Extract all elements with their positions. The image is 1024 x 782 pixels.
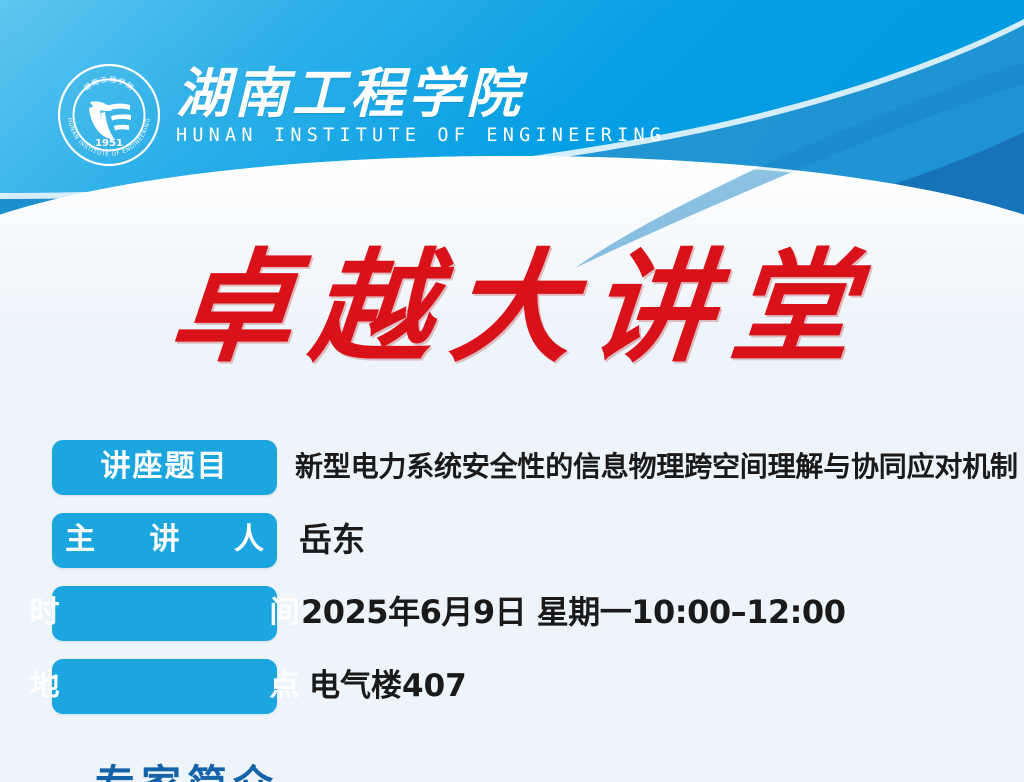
main-title: 卓越大讲堂 <box>0 246 1024 368</box>
label-pill-location: 地 点 <box>52 659 277 714</box>
label-pill-topic: 讲座题目 <box>52 440 277 495</box>
institution-name-en: HUNAN INSTITUTE OF ENGINEERING <box>176 125 666 146</box>
value-location: 电气楼407 <box>309 670 467 703</box>
seal-year: 1951 <box>95 138 123 149</box>
value-topic: 新型电力系统安全性的信息物理跨空间理解与协同应对机制 <box>295 452 1018 481</box>
value-time: 2025年6月9日 星期一10:00–12:00 <box>301 596 845 630</box>
label-text-location: 地 点 <box>0 671 350 701</box>
info-row-topic: 讲座题目 新型电力系统安全性的信息物理跨空间理解与协同应对机制 <box>0 438 1024 496</box>
university-seal-icon: 1951 湖南工程学院 HUNAN INSTITUTE OF ENGINEERI… <box>56 62 162 168</box>
info-block: 讲座题目 新型电力系统安全性的信息物理跨空间理解与协同应对机制 主 讲 人 岳东… <box>0 438 1024 730</box>
institution-name-cn: 湖南工程学院 <box>176 66 666 121</box>
poster-canvas: 1951 湖南工程学院 HUNAN INSTITUTE OF ENGINEERI… <box>0 0 1024 782</box>
seal-cn-arc: 湖南工程学院 <box>82 75 136 93</box>
section-heading-expert-bio: 专家简介 <box>95 752 279 782</box>
label-text-topic: 讲座题目 <box>101 452 229 482</box>
value-speaker: 岳东 <box>299 523 365 558</box>
info-row-location: 地 点 电气楼407 <box>0 657 1024 715</box>
info-row-time: 时 间 2025年6月9日 星期一10:00–12:00 <box>0 584 1024 642</box>
label-pill-speaker: 主 讲 人 <box>52 513 277 568</box>
university-logo-lockup: 1951 湖南工程学院 HUNAN INSTITUTE OF ENGINEERI… <box>56 62 666 168</box>
main-title-text: 卓越大讲堂 <box>148 246 877 368</box>
label-text-time: 时 间 <box>0 598 350 628</box>
label-pill-time: 时 间 <box>52 586 277 641</box>
label-text-speaker: 主 讲 人 <box>43 525 286 555</box>
info-row-speaker: 主 讲 人 岳东 <box>0 511 1024 569</box>
wordmark: 湖南工程学院 HUNAN INSTITUTE OF ENGINEERING <box>176 62 666 146</box>
